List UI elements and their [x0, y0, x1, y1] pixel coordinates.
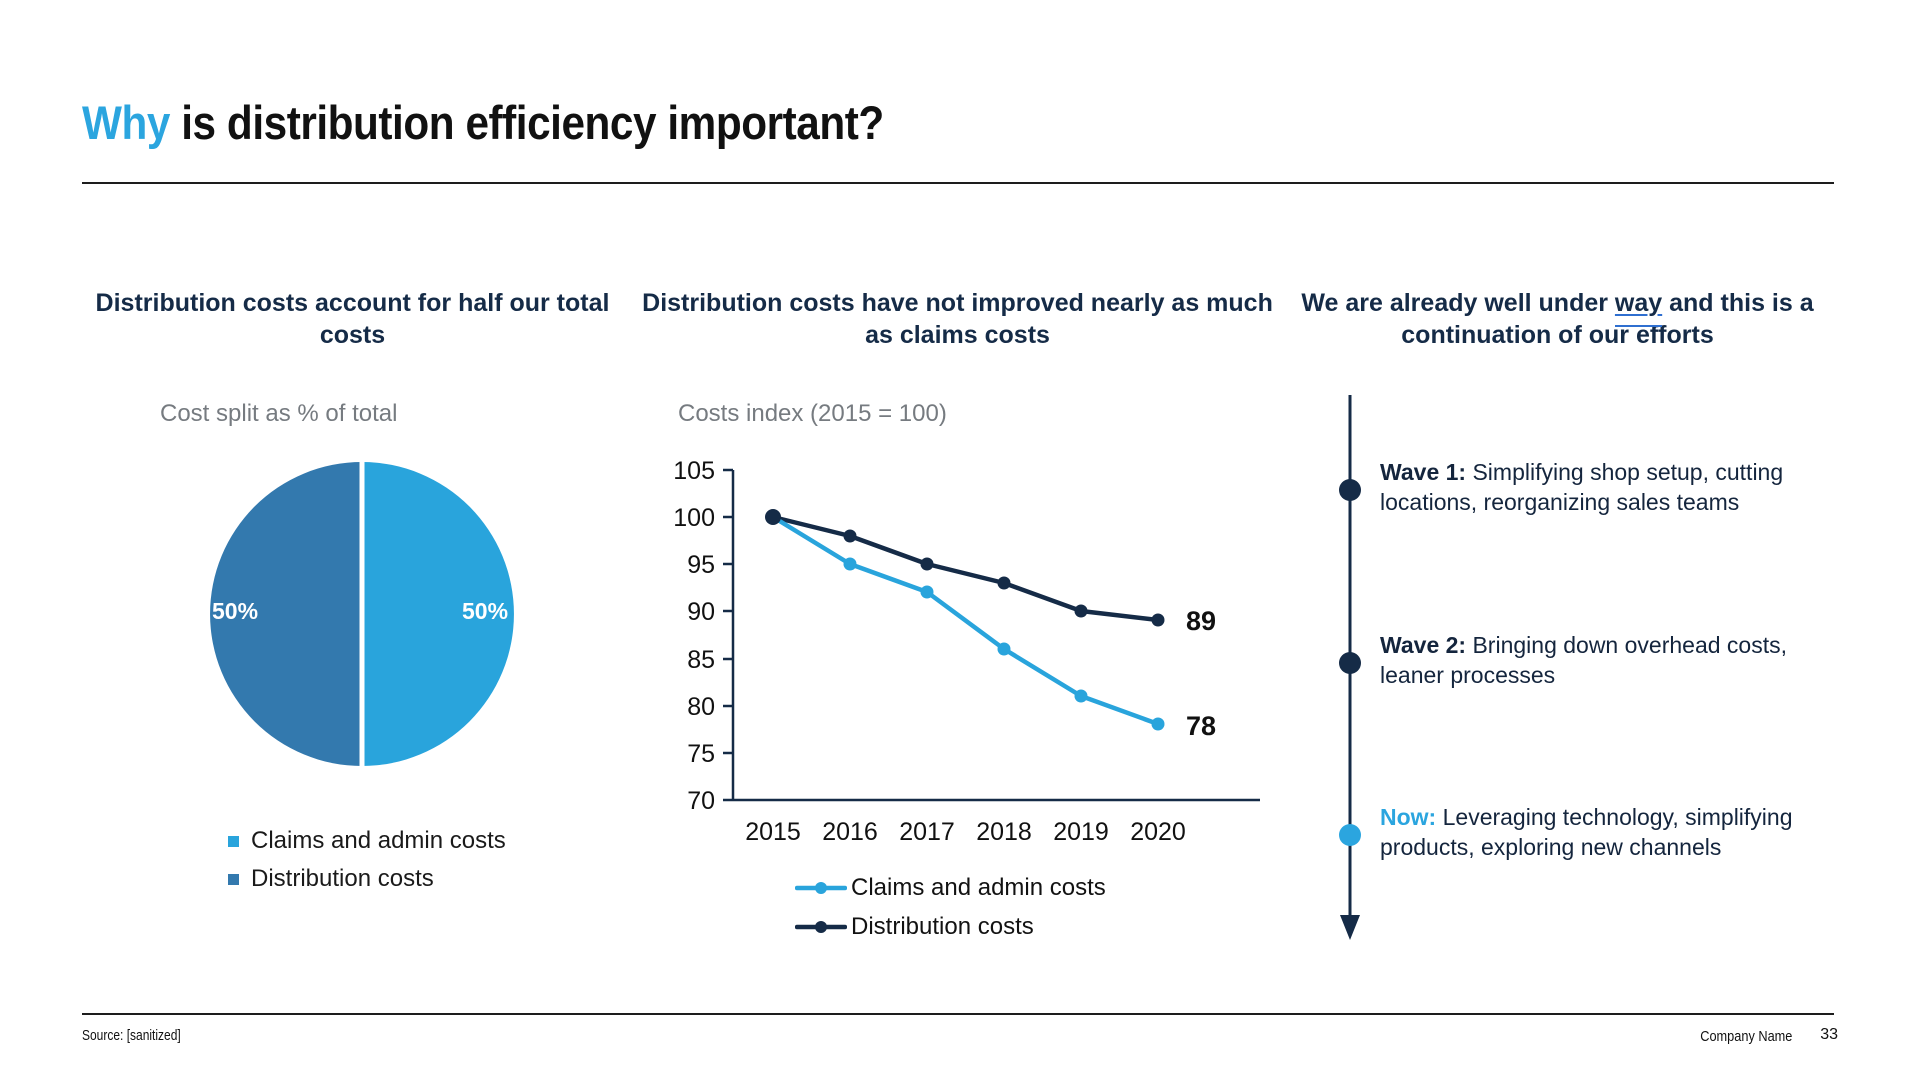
pie-value-label-claims: 50%	[462, 598, 508, 625]
y-axis-tick-labels: 105 100 95 90 85 80 75 70	[673, 457, 715, 815]
timeline-item-lead: Wave 2:	[1380, 632, 1466, 658]
legend-swatch-icon	[228, 874, 239, 885]
pie-legend-item-distribution: Distribution costs	[228, 860, 506, 898]
line-chart-subtitle: Costs index (2015 = 100)	[678, 400, 947, 428]
timeline-dot-wave-2	[1339, 652, 1361, 674]
pie-value-label-distribution: 50%	[212, 598, 258, 625]
footer-divider	[82, 1013, 1834, 1015]
timeline-item-lead: Wave 1:	[1380, 459, 1466, 485]
x-axis-tick-labels: 2015 2016 2017 2018 2019 2020	[745, 818, 1186, 846]
line-chart: 105 100 95 90 85 80 75 70 2015 2016 2017…	[665, 452, 1275, 852]
page-title-rest: is distribution efficiency important?	[170, 96, 884, 149]
column-header-pie: Distribution costs account for half our …	[85, 287, 620, 351]
line-legend: Claims and admin costs Distribution cost…	[795, 868, 1106, 946]
svg-text:75: 75	[687, 740, 715, 768]
line-legend-label: Claims and admin costs	[851, 874, 1106, 902]
svg-text:100: 100	[673, 504, 715, 532]
column-header-timeline: We are already well under way and this i…	[1255, 287, 1860, 351]
line-series-claims	[773, 517, 1158, 724]
column-header-line: Distribution costs have not improved nea…	[640, 287, 1275, 351]
pie-legend: Claims and admin costs Distribution cost…	[228, 822, 506, 898]
timeline: Wave 1: Simplifying shop setup, cutting …	[1332, 395, 1852, 955]
column-header-timeline-before: We are already well under	[1301, 289, 1615, 317]
svg-text:2020: 2020	[1130, 818, 1186, 846]
svg-text:90: 90	[687, 598, 715, 626]
timeline-item-wave-1: Wave 1: Simplifying shop setup, cutting …	[1380, 457, 1850, 518]
svg-text:70: 70	[687, 787, 715, 815]
svg-text:80: 80	[687, 693, 715, 721]
svg-text:2016: 2016	[822, 818, 878, 846]
page-title-accent: Why	[82, 96, 170, 149]
line-series-distribution	[773, 517, 1158, 620]
column-header-spellcheck-word: way	[1615, 289, 1662, 317]
pie-chart-subtitle: Cost split as % of total	[160, 400, 397, 428]
timeline-dot-wave-1	[1339, 479, 1361, 501]
line-end-label-distribution: 89	[1186, 606, 1216, 636]
svg-text:2018: 2018	[976, 818, 1032, 846]
legend-swatch-icon	[228, 836, 239, 847]
timeline-dot-now	[1339, 824, 1361, 846]
y-axis-ticks	[723, 470, 733, 800]
svg-text:85: 85	[687, 646, 715, 674]
line-legend-item-claims: Claims and admin costs	[795, 868, 1106, 907]
pie-legend-label: Claims and admin costs	[251, 827, 506, 855]
svg-text:2015: 2015	[745, 818, 801, 846]
pie-legend-label: Distribution costs	[251, 865, 434, 893]
line-legend-item-distribution: Distribution costs	[795, 907, 1106, 946]
timeline-item-lead: Now:	[1380, 804, 1436, 830]
line-end-label-claims: 78	[1186, 711, 1216, 741]
timeline-item-wave-2: Wave 2: Bringing down overhead costs, le…	[1380, 630, 1850, 691]
page-title: Why is distribution efficiency important…	[82, 95, 884, 150]
pie-legend-item-claims: Claims and admin costs	[228, 822, 506, 860]
timeline-arrow-icon	[1340, 915, 1360, 940]
legend-line-marker-icon	[795, 879, 847, 897]
line-legend-label: Distribution costs	[851, 913, 1034, 941]
timeline-item-now: Now: Leveraging technology, simplifying …	[1380, 802, 1850, 863]
svg-text:2017: 2017	[899, 818, 955, 846]
svg-text:95: 95	[687, 551, 715, 579]
footer-page-number: 33	[1820, 1026, 1838, 1044]
svg-text:105: 105	[673, 457, 715, 485]
footer-company-name: Company Name	[1700, 1028, 1792, 1045]
line-markers-distribution	[765, 509, 1165, 627]
legend-line-marker-icon	[795, 918, 847, 936]
svg-text:2019: 2019	[1053, 818, 1109, 846]
footer-source: Source: [sanitized]	[82, 1027, 181, 1044]
title-divider	[82, 182, 1834, 184]
timeline-item-text: Leveraging technology, simplifying produ…	[1380, 804, 1793, 860]
